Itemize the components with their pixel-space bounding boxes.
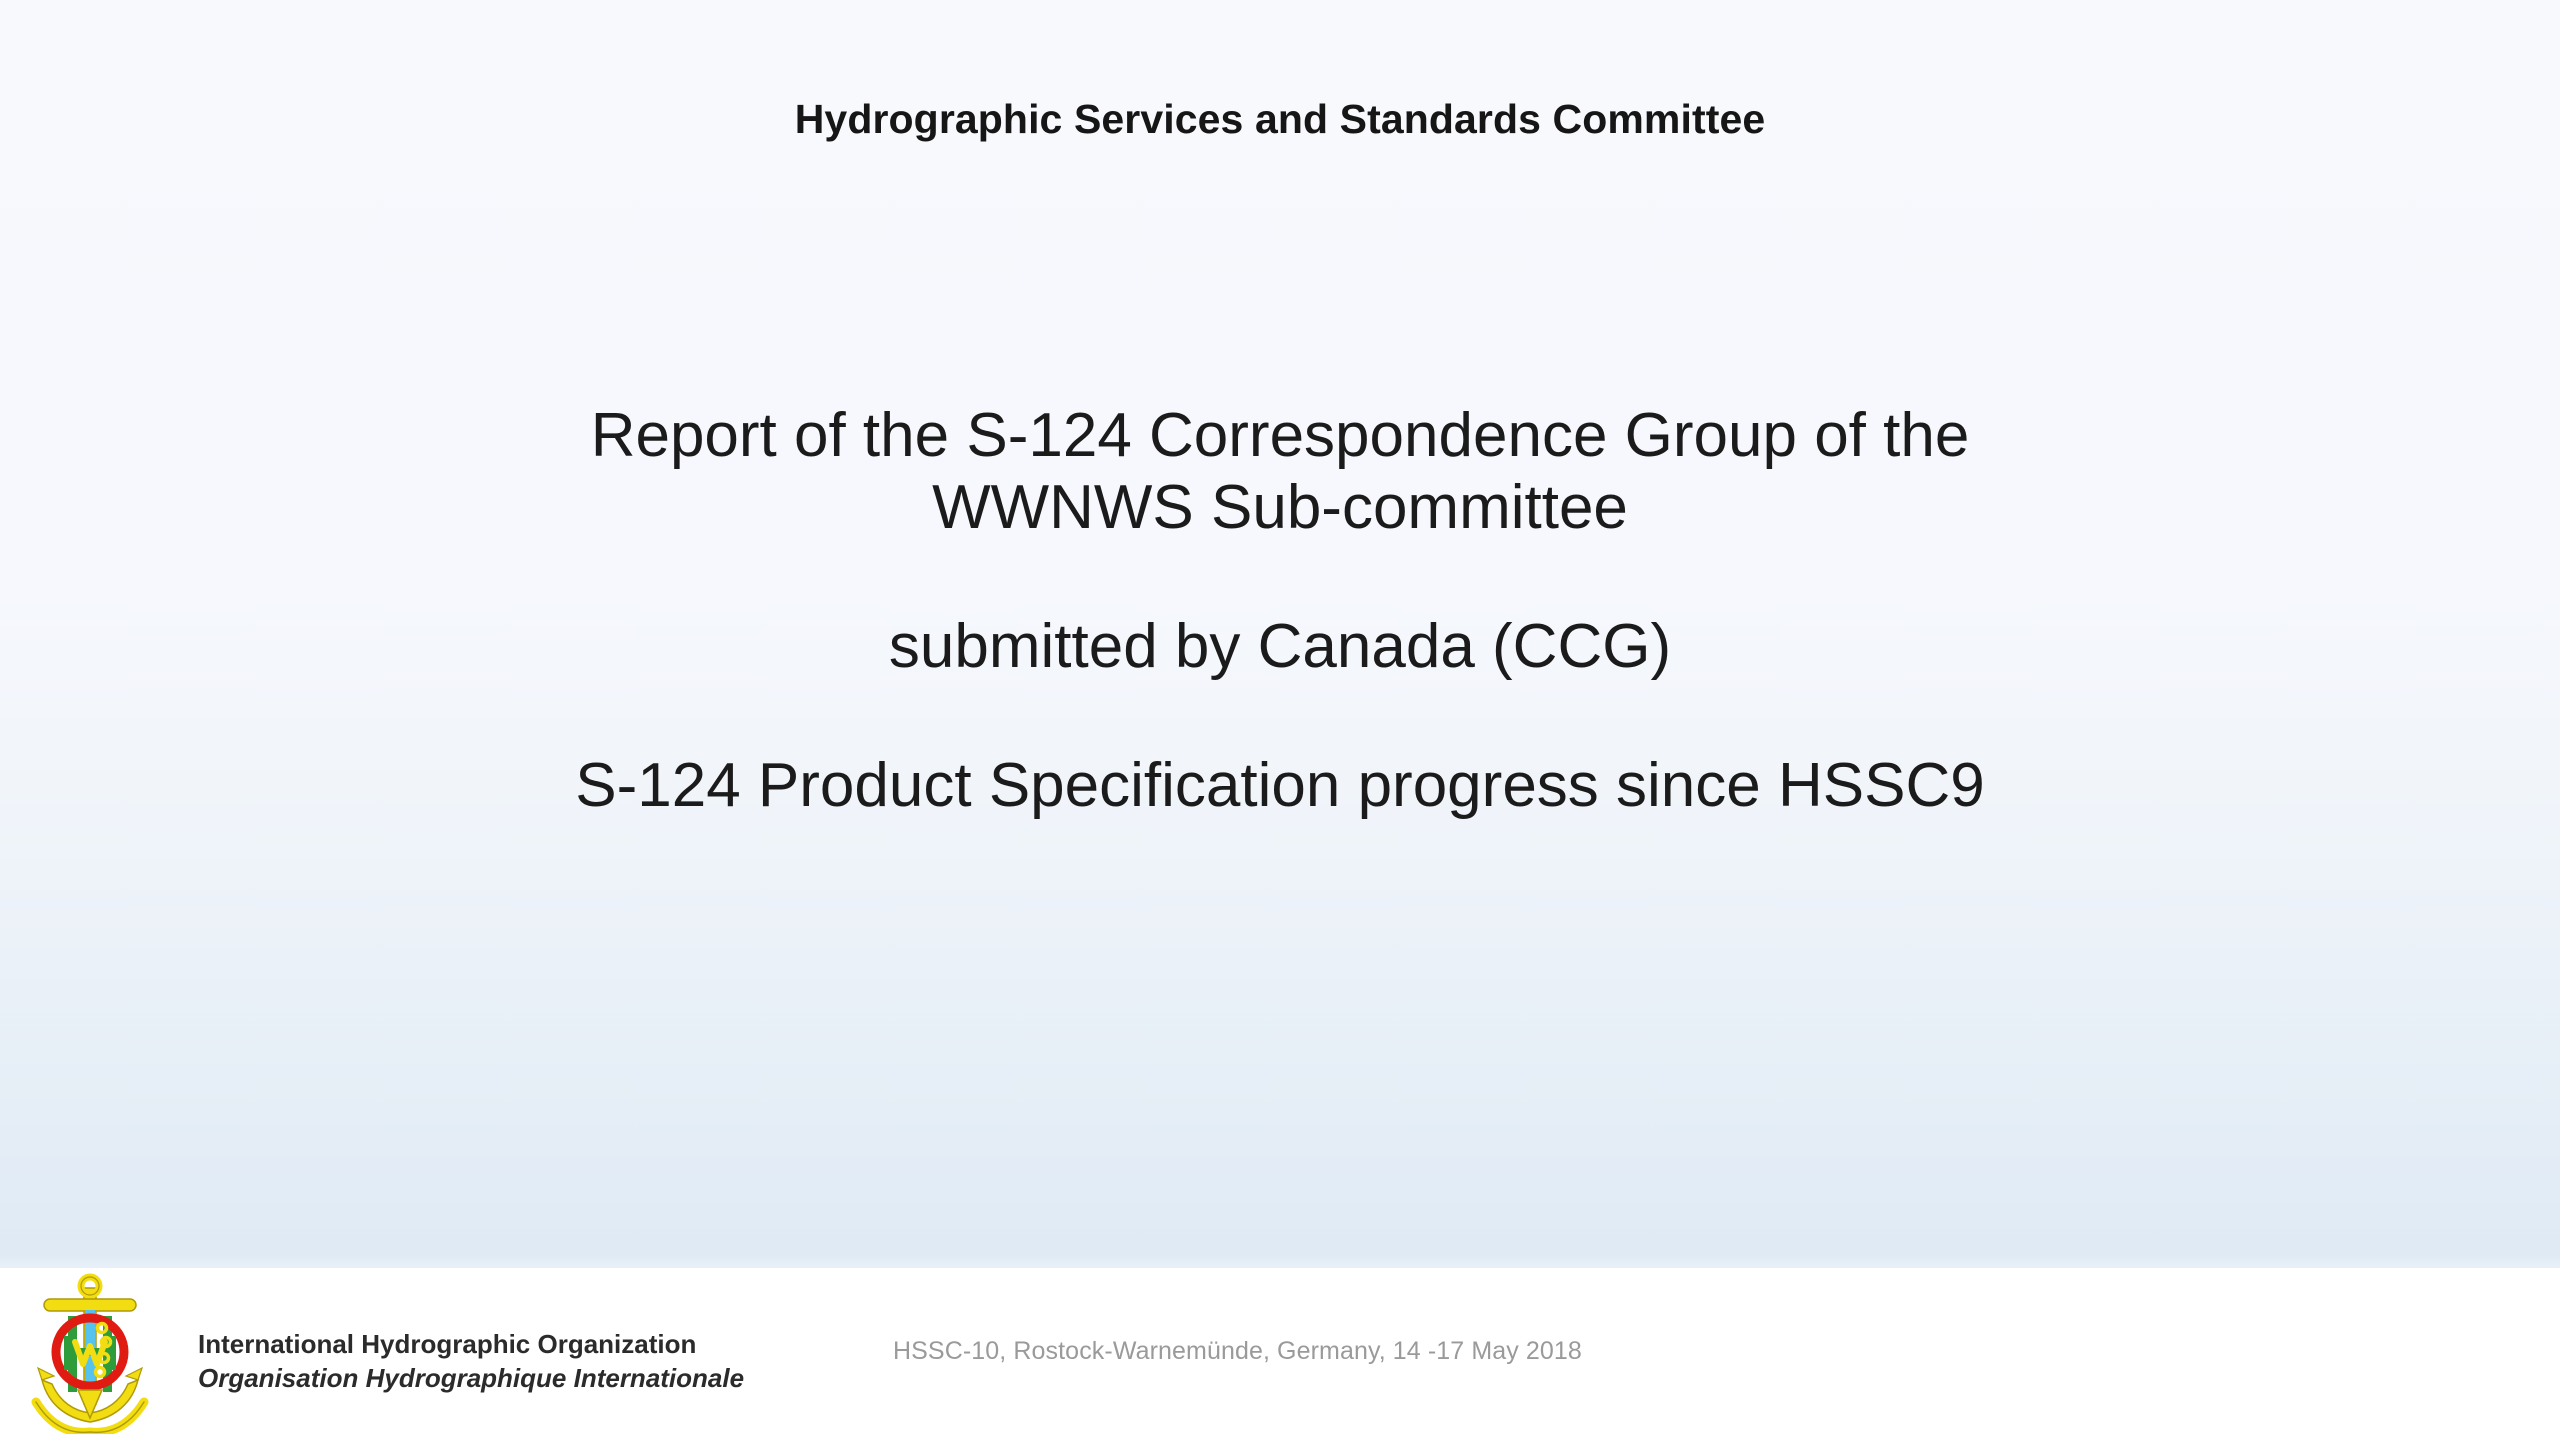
title-line-3: submitted by Canada (CCG)	[330, 611, 2230, 683]
footer-organization-name: International Hydrographic Organization …	[198, 1327, 818, 1396]
presentation-slide: Hydrographic Services and Standards Comm…	[0, 0, 2560, 1440]
slide-title-block: Report of the S-124 Correspondence Group…	[330, 400, 2230, 822]
title-line-4: S-124 Product Specification progress sin…	[330, 750, 2230, 822]
title-line-2: WWNWS Sub-committee	[330, 472, 2230, 544]
iho-anchor-emblem-icon	[28, 1272, 152, 1434]
footer-event-info: HSSC-10, Rostock-Warnemünde, Germany, 14…	[893, 1337, 1582, 1366]
footer-organization-name-en: International Hydrographic Organization	[198, 1327, 818, 1361]
page-title: Hydrographic Services and Standards Comm…	[0, 95, 2560, 144]
footer-organization-name-fr: Organisation Hydrographique Internationa…	[198, 1361, 818, 1395]
title-line-1: Report of the S-124 Correspondence Group…	[330, 400, 2230, 472]
